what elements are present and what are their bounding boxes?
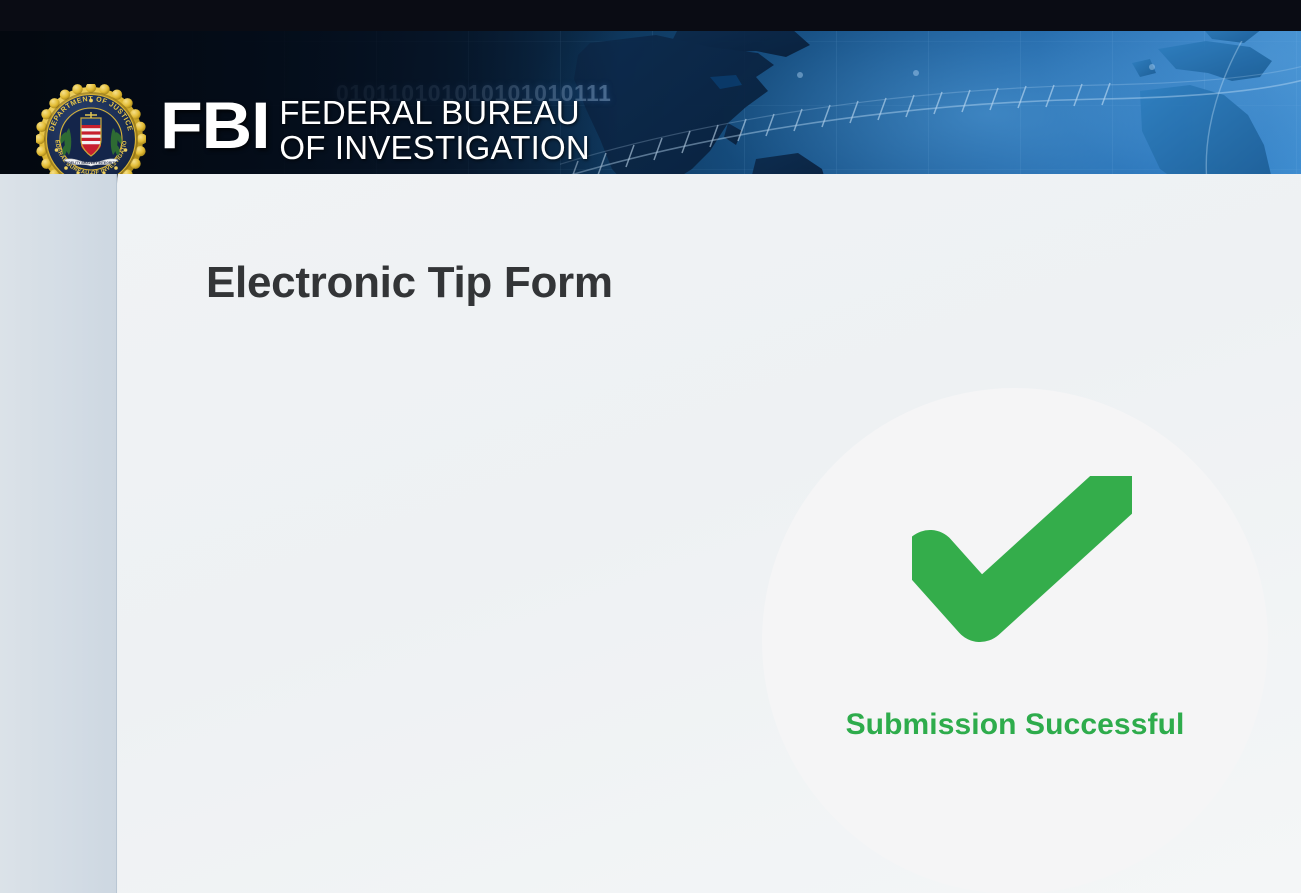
fbi-wordmark: FBI FEDERAL BUREAU OF INVESTIGATION — [160, 93, 590, 166]
fbi-masthead: 010110101010101010111 — [0, 31, 1301, 174]
fbi-acronym: FBI — [160, 93, 270, 157]
page-title: Electronic Tip Form — [206, 258, 613, 308]
main-content: Electronic Tip Form Submission Successfu… — [118, 174, 1301, 893]
fbi-org-line-1: FEDERAL BUREAU — [279, 96, 590, 131]
browser-top-strip — [0, 0, 1301, 31]
fbi-org-line-2: OF INVESTIGATION — [279, 131, 590, 166]
submission-success-panel: Submission Successful — [762, 388, 1268, 893]
svg-text:FIDELITY BRAVERY INTEGRITY: FIDELITY BRAVERY INTEGRITY — [65, 161, 117, 165]
page-root: 010110101010101010111 — [0, 0, 1301, 893]
fbi-org-name: FEDERAL BUREAU OF INVESTIGATION — [279, 93, 590, 166]
left-sidebar — [0, 174, 117, 893]
fbi-seal-icon: DEPARTMENT OF JUSTICE FEDERAL BUREAU OF … — [36, 84, 146, 174]
submission-success-message: Submission Successful — [762, 708, 1268, 742]
orbit-arc-icon — [560, 41, 1301, 174]
green-checkmark-icon — [912, 476, 1132, 646]
